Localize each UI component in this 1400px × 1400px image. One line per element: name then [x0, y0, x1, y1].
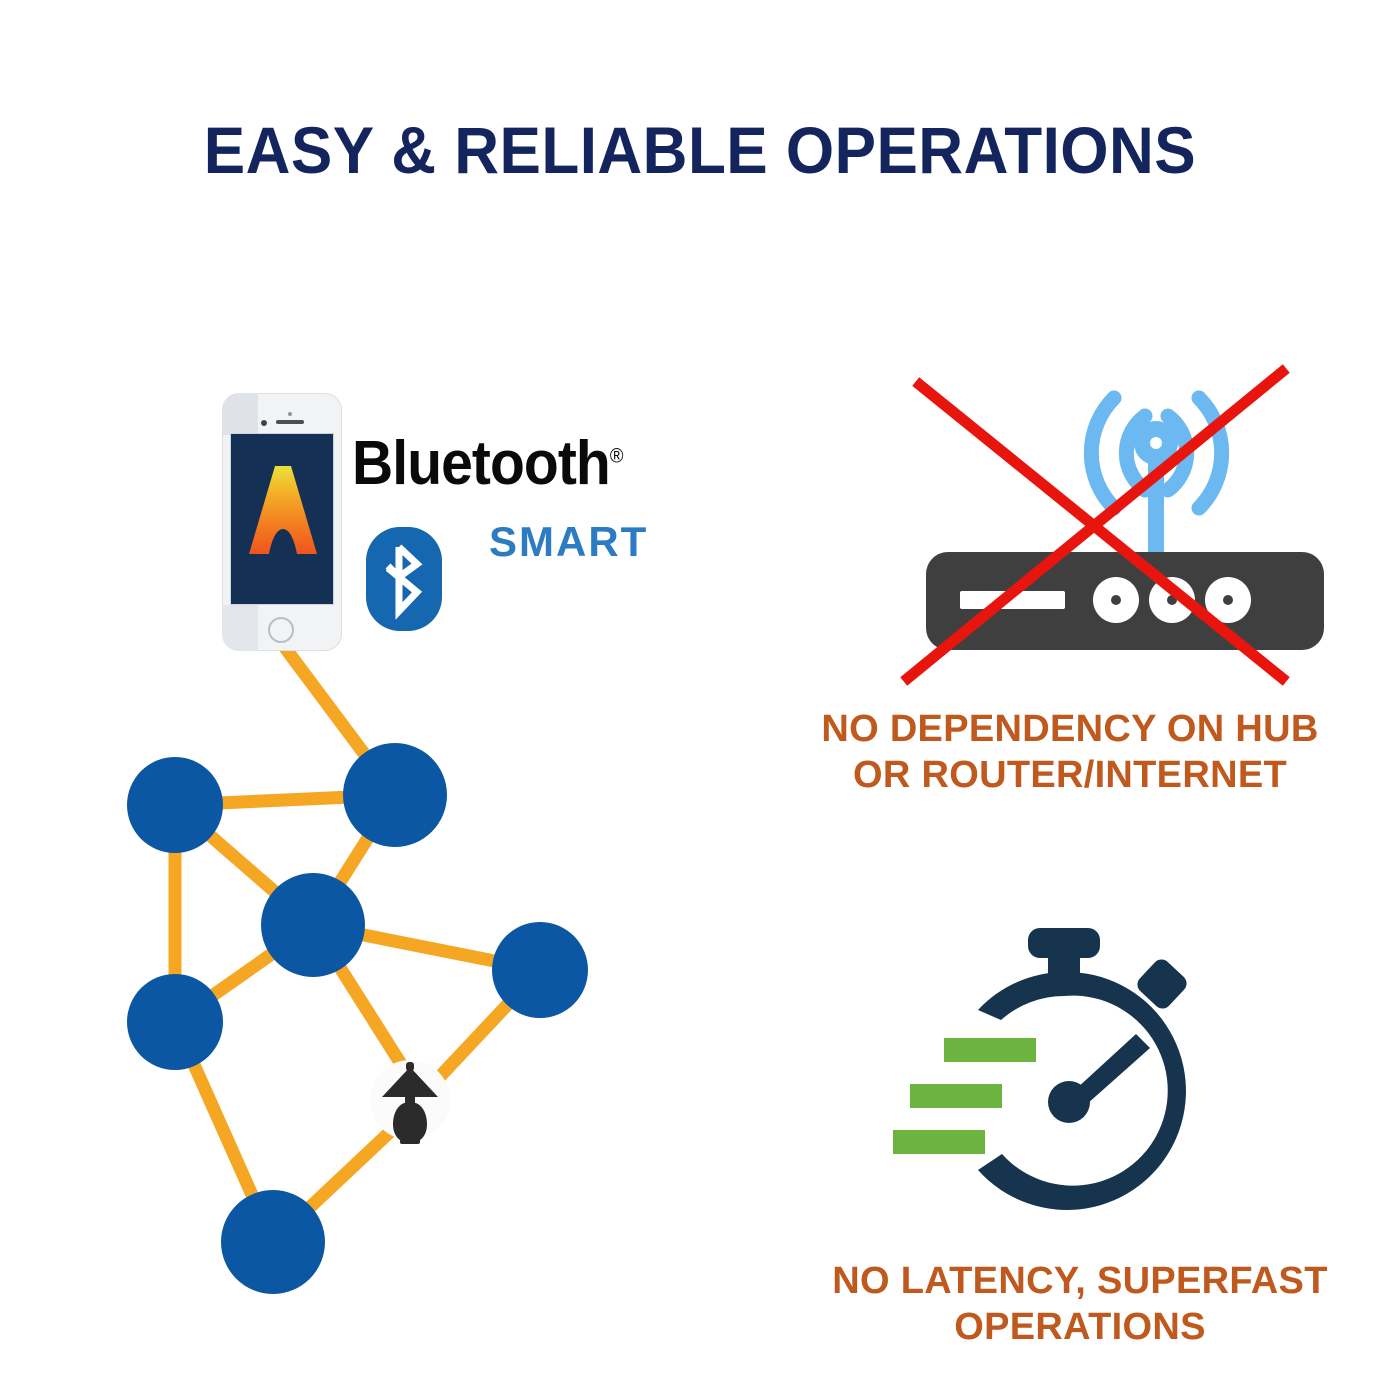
mesh-nodes [127, 743, 588, 1294]
mesh-node-n1[interactable] [343, 743, 447, 847]
feature-caption-no-latency-line1: NO LATENCY, SUPERFAST [790, 1258, 1370, 1304]
phone-camera [261, 420, 267, 426]
phone-sensor [288, 412, 292, 416]
feature-caption-no-hub-line1: NO DEPENDENCY ON HUB [770, 706, 1370, 752]
bluetooth-smart-label: SMART [489, 518, 648, 566]
registered-trademark-mark: ® [610, 445, 623, 467]
phone-speaker [276, 420, 304, 424]
stopwatch-speed-icon [860, 900, 1280, 1230]
mesh-node-n3[interactable] [261, 873, 365, 977]
phone-bevel-top [222, 393, 258, 435]
bluetooth-icon[interactable] [366, 527, 442, 631]
router-body [926, 552, 1324, 650]
page-title: EASY & RELIABLE OPERATIONS [42, 112, 1358, 188]
feature-caption-no-latency: NO LATENCY, SUPERFAST OPERATIONS [790, 1258, 1370, 1351]
speed-lines-icon [893, 1038, 1036, 1154]
stopwatch-icon [978, 928, 1190, 1210]
phone-screen [230, 433, 334, 605]
mesh-node-n6[interactable] [221, 1190, 325, 1294]
smartphone-device[interactable] [222, 393, 342, 651]
bluetooth-wordmark: Bluetooth® [352, 428, 622, 499]
feature-caption-no-hub-line2: OR ROUTER/INTERNET [770, 752, 1370, 798]
mesh-node-n4[interactable] [492, 922, 588, 1018]
mesh-node-n2[interactable] [127, 757, 223, 853]
phone-home-button[interactable] [268, 617, 294, 643]
bluetooth-wordmark-text: Bluetooth [352, 429, 610, 498]
feature-caption-no-hub: NO DEPENDENCY ON HUB OR ROUTER/INTERNET [770, 706, 1370, 799]
router-crossed-out-icon [900, 360, 1370, 690]
mesh-node-n5[interactable] [127, 974, 223, 1070]
gradient-a-logo-icon [231, 434, 334, 605]
feature-caption-no-latency-line2: OPERATIONS [790, 1304, 1370, 1350]
phone-bevel-bottom [222, 605, 258, 651]
